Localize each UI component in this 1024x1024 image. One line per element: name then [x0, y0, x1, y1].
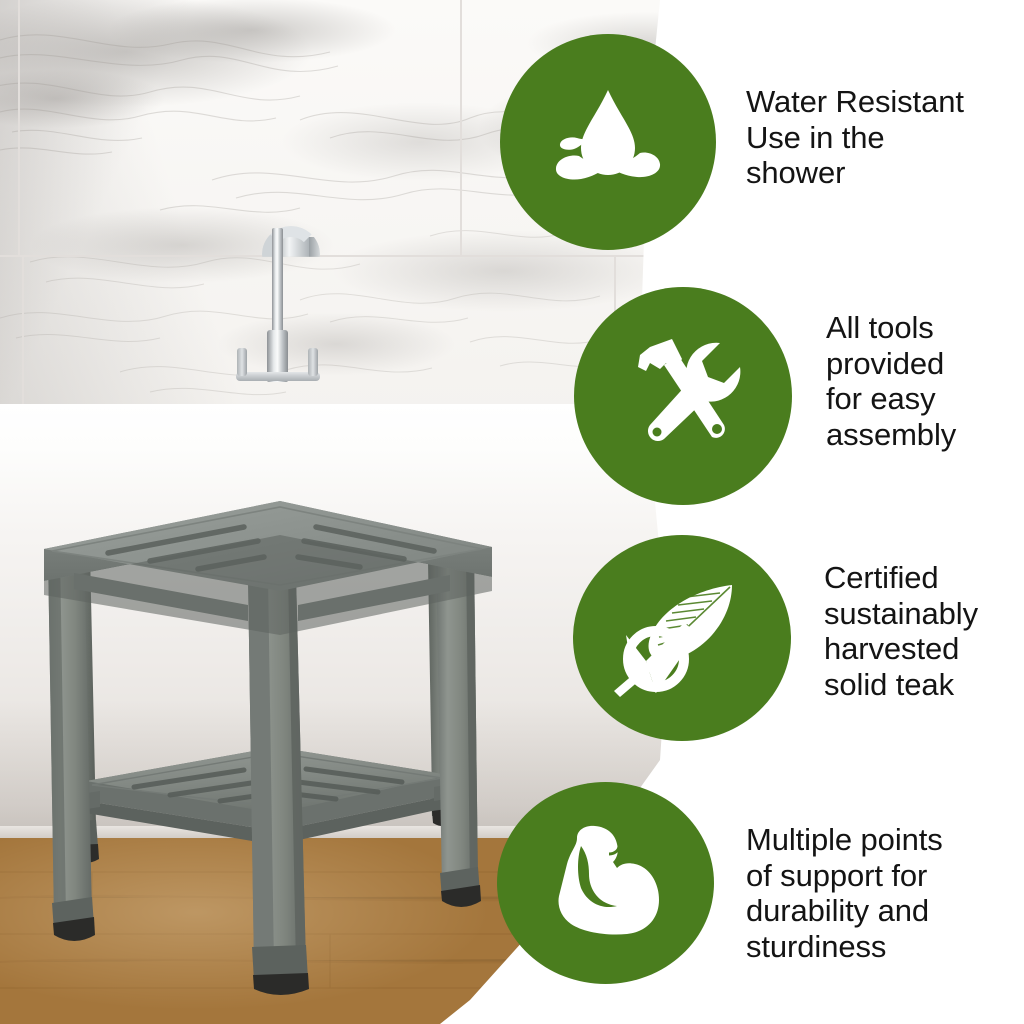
faucet-arc	[262, 226, 320, 282]
hammer-wrench-tools-icon	[620, 333, 746, 459]
faucet-spout	[272, 228, 283, 340]
grout-line-horizontal	[0, 255, 700, 257]
feature-caption-certified-teak: Certified sustainably harvested solid te…	[824, 560, 1024, 702]
feature-caption-multiple-support: Multiple points of support for durabilit…	[746, 822, 1024, 964]
grout-line-vertical	[460, 0, 462, 255]
feature-caption-water-resistant: Water Resistant Use in the shower	[746, 84, 1024, 191]
stool-top-surface	[44, 501, 492, 635]
feature-badge-all-tools[interactable]	[574, 287, 792, 505]
flexed-bicep-icon	[547, 824, 665, 942]
infographic-canvas: Water Resistant Use in the shower All to…	[0, 0, 1024, 1024]
feature-badge-certified-teak[interactable]	[573, 535, 791, 741]
feature-caption-all-tools: All tools provided for easy assembly	[826, 310, 1024, 452]
faucet-handle-left	[237, 348, 247, 376]
faucet-handle-right	[308, 348, 318, 376]
feature-badge-multiple-support[interactable]	[497, 782, 714, 984]
feature-badge-water-resistant[interactable]	[500, 34, 716, 250]
water-drop-splash-icon	[543, 82, 673, 202]
stool-leg-center-front	[248, 575, 309, 995]
leaf-checkmark-icon	[612, 575, 752, 701]
teak-corner-stool	[30, 495, 500, 995]
stool-leg-front-right	[436, 551, 481, 907]
grout-line-vertical	[18, 0, 20, 255]
